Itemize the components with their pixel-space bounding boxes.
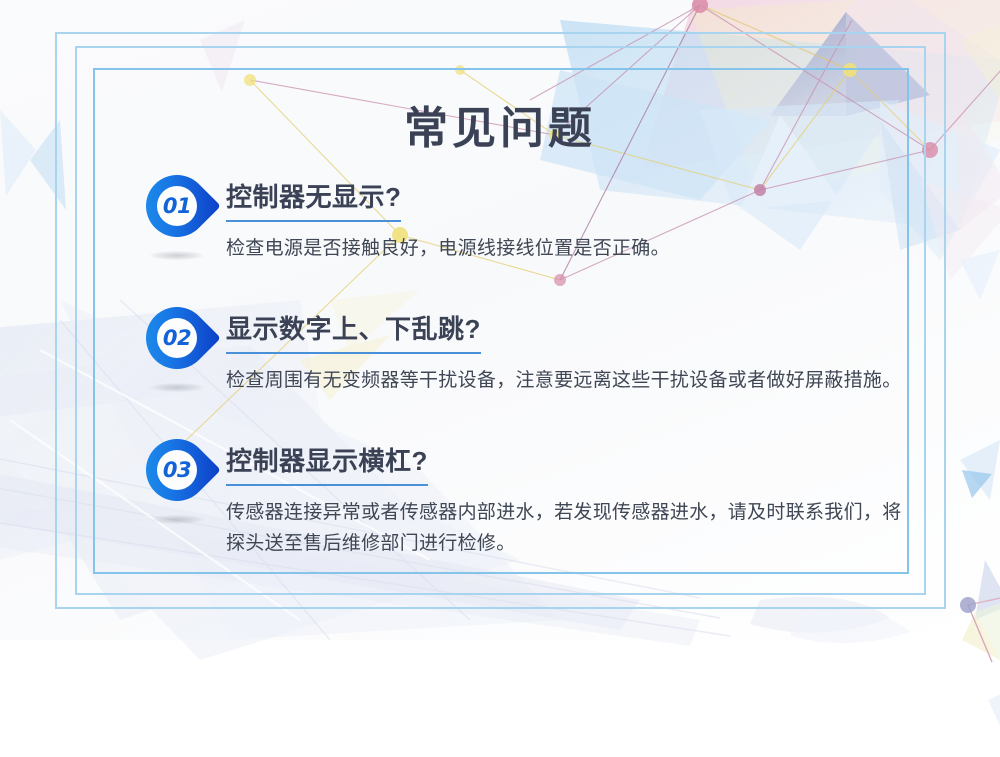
page-title: 常见问题 (0, 92, 1000, 156)
faq-answer-body: 传感器连接异常或者传感器内部进水，若发现传感器进水，请及时联系我们，将探头送至售… (226, 497, 906, 559)
faq-item: 03 控制器显示横杠? 传感器连接异常或者传感器内部进水，若发现传感器进水，请及… (140, 439, 910, 559)
faq-number-label: 02 (146, 307, 208, 369)
faq-page: 常见问题 01 控制器无显示? 检查电源是否接触良好，电源线接线位置是否正确。 (0, 0, 1000, 757)
faq-answer-body: 检查周围有无变频器等干扰设备，注意要远离这些干扰设备或者做好屏蔽措施。 (226, 365, 906, 396)
faq-question-heading: 显示数字上、下乱跳? (226, 309, 481, 354)
faq-item: 01 控制器无显示? 检查电源是否接触良好，电源线接线位置是否正确。 (140, 175, 910, 265)
faq-number-label: 03 (146, 439, 208, 501)
faq-number-marker: 03 (140, 439, 216, 529)
faq-text-block: 显示数字上、下乱跳? 检查周围有无变频器等干扰设备，注意要远离这些干扰设备或者做… (216, 307, 910, 396)
pin-shadow (150, 251, 204, 260)
faq-question-heading: 控制器显示横杠? (226, 441, 428, 486)
faq-item: 02 显示数字上、下乱跳? 检查周围有无变频器等干扰设备，注意要远离这些干扰设备… (140, 307, 910, 397)
faq-text-block: 控制器显示横杠? 传感器连接异常或者传感器内部进水，若发现传感器进水，请及时联系… (216, 439, 910, 559)
faq-list: 01 控制器无显示? 检查电源是否接触良好，电源线接线位置是否正确。 02 (140, 175, 910, 559)
faq-question-heading: 控制器无显示? (226, 177, 401, 222)
faq-answer-body: 检查电源是否接触良好，电源线接线位置是否正确。 (226, 233, 906, 264)
faq-text-block: 控制器无显示? 检查电源是否接触良好，电源线接线位置是否正确。 (216, 175, 910, 264)
pin-shadow (150, 383, 204, 392)
faq-number-label: 01 (146, 175, 208, 237)
faq-number-marker: 02 (140, 307, 216, 397)
faq-number-marker: 01 (140, 175, 216, 265)
content-area: 常见问题 01 控制器无显示? 检查电源是否接触良好，电源线接线位置是否正确。 (0, 0, 1000, 757)
pin-shadow (150, 515, 204, 524)
